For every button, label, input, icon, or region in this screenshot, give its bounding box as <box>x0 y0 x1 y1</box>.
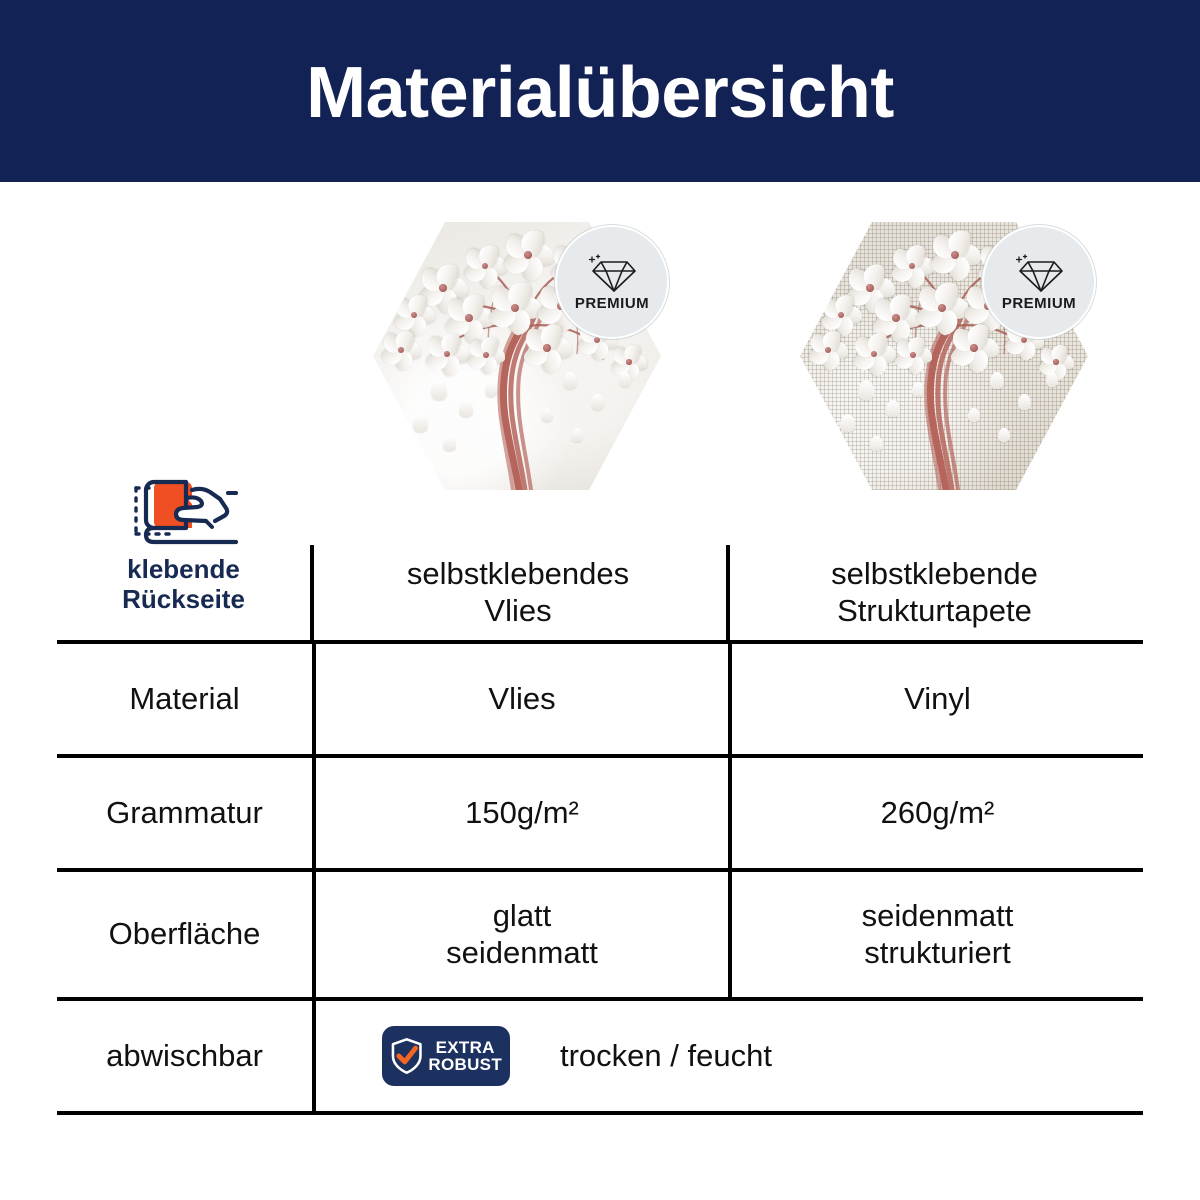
abwischbar-value-text: trocken / feucht <box>560 1038 772 1075</box>
header-struktur-line2: Strukturtapete <box>831 593 1038 630</box>
extra-robust-badge: EXTRA ROBUST <box>382 1026 510 1086</box>
diamond-icon <box>1012 254 1066 294</box>
cell-material-struktur: Vinyl <box>728 644 1143 754</box>
header-struktur-line1: selbstklebende <box>831 556 1038 593</box>
table-row: Grammatur 150g/m² 260g/m² <box>57 758 1143 872</box>
cell-abwischbar-value: EXTRA ROBUST trocken / feucht <box>312 1001 1143 1111</box>
oberflaeche-struktur-line2: strukturiert <box>862 935 1014 972</box>
robust-line2: ROBUST <box>428 1056 502 1073</box>
oberflaeche-struktur-line1: seidenmatt <box>862 898 1014 935</box>
cell-material-vlies: Vlies <box>312 644 728 754</box>
premium-badge-label: PREMIUM <box>575 296 649 311</box>
robust-line1: EXTRA <box>428 1039 502 1056</box>
header-cell-vlies: selbstklebendes Vlies <box>310 545 726 640</box>
diamond-icon <box>585 254 639 294</box>
row-label-material: Material <box>57 644 312 754</box>
table-header-row: selbstklebendes Vlies selbstklebende Str… <box>57 545 1143 640</box>
peel-adhesive-backing-icon <box>125 468 243 546</box>
header-cell-strukturtapete: selbstklebende Strukturtapete <box>726 545 1143 640</box>
cell-grammatur-struktur: 260g/m² <box>728 758 1143 868</box>
cell-oberflaeche-struktur: seidenmatt strukturiert <box>728 872 1143 997</box>
header-vlies-line2: Vlies <box>407 593 629 630</box>
row-label-abwischbar: abwischbar <box>57 1001 312 1111</box>
table-row: Oberfläche glatt seidenmatt seidenmatt s… <box>57 872 1143 1001</box>
header-vlies-line1: selbstklebendes <box>407 556 629 593</box>
row-label-grammatur: Grammatur <box>57 758 312 868</box>
shield-check-icon <box>390 1037 423 1075</box>
material-overview-page: Materialübersicht <box>0 0 1200 1200</box>
material-comparison-table: Material Vlies Vinyl Grammatur 150g/m² 2… <box>57 640 1143 1115</box>
table-row: Material Vlies Vinyl <box>57 644 1143 758</box>
header-cell-empty <box>57 545 310 640</box>
oberflaeche-vlies-line1: glatt <box>446 898 598 935</box>
cell-oberflaeche-vlies: glatt seidenmatt <box>312 872 728 997</box>
oberflaeche-vlies-line2: seidenmatt <box>446 935 598 972</box>
extra-robust-label: EXTRA ROBUST <box>428 1039 502 1074</box>
page-title: Materialübersicht <box>306 57 894 129</box>
premium-badge: PREMIUM <box>555 225 669 339</box>
table-row: abwischbar EXTRA ROBUST trocken / feucht <box>57 1001 1143 1115</box>
row-label-oberflaeche: Oberfläche <box>57 872 312 997</box>
cell-grammatur-vlies: 150g/m² <box>312 758 728 868</box>
premium-badge-label: PREMIUM <box>1002 296 1076 311</box>
header-banner: Materialübersicht <box>0 0 1200 182</box>
premium-badge: PREMIUM <box>982 225 1096 339</box>
